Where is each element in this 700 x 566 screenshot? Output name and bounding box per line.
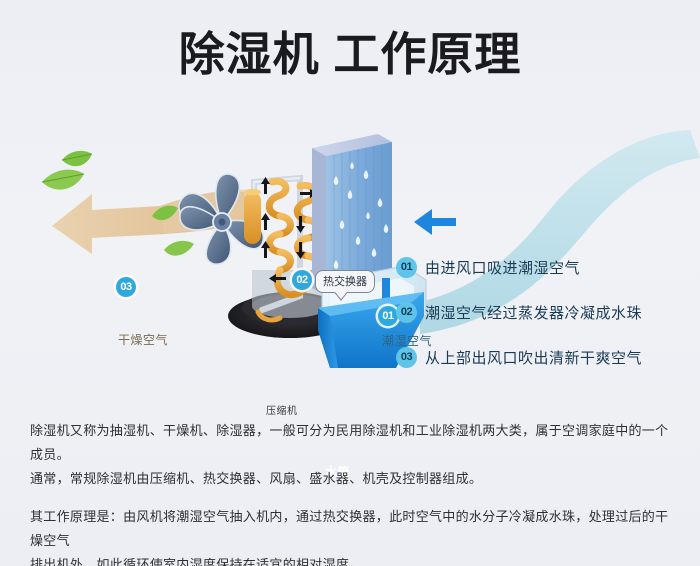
art-badge-03: 03 xyxy=(116,277,136,297)
legend-text-03: 从上部出风口吹出清新干爽空气 xyxy=(425,347,642,368)
legend-badge-02: 02 xyxy=(396,302,417,323)
paragraph2-line1: 其工作原理是：由风机将潮湿空气抽入机内，通过热交换器，此时空气中的水分子冷凝成水… xyxy=(30,505,675,553)
paragraph1-line1: 除湿机又称为抽湿机、干燥机、除湿器，一般可分为民用除湿机和工业除湿机两大类，属于… xyxy=(30,419,675,467)
intake-arrow xyxy=(414,209,456,235)
legend-badge-01: 01 xyxy=(396,257,417,278)
legend-item: 01 由进风口吸进潮湿空气 xyxy=(396,252,686,282)
legend-text-01: 由进风口吸进潮湿空气 xyxy=(425,257,580,278)
legend-item: 03 从上部出风口吹出清新干爽空气 xyxy=(396,342,686,372)
art-badge-02: 02 xyxy=(292,270,312,290)
art-badge-01: 01 xyxy=(378,306,398,326)
body-copy: 除湿机又称为抽湿机、干燥机、除湿器，一般可分为民用除湿机和工业除湿机两大类，属于… xyxy=(30,419,675,566)
page-root: 除湿机 工作原理 xyxy=(0,0,700,566)
page-title: 除湿机 工作原理 xyxy=(179,28,522,81)
paragraph1-line2: 通常，常规除湿机由压缩机、热交换器、风扇、盛水器、机壳及控制器组成。 xyxy=(30,467,675,491)
legend-badge-03: 03 xyxy=(396,347,417,368)
legend-text-02: 潮湿空气经过蒸发器冷凝成水珠 xyxy=(425,302,642,323)
label-compressor: 压缩机 xyxy=(266,402,298,417)
heat-exchanger-callout: 热交换器 xyxy=(315,270,375,293)
legend-list: 01 由进风口吸进潮湿空气 02 潮湿空气经过蒸发器冷凝成水珠 03 从上部出风… xyxy=(396,252,686,387)
paragraph2-line2: 排出机外，如此循环使室内湿度保持在适宜的相对湿度。 xyxy=(30,553,675,566)
legend-item: 02 潮湿空气经过蒸发器冷凝成水珠 xyxy=(396,297,686,327)
page-title-wrap: 除湿机 工作原理 xyxy=(0,28,700,81)
label-dry-air: 干燥空气 xyxy=(118,331,168,348)
